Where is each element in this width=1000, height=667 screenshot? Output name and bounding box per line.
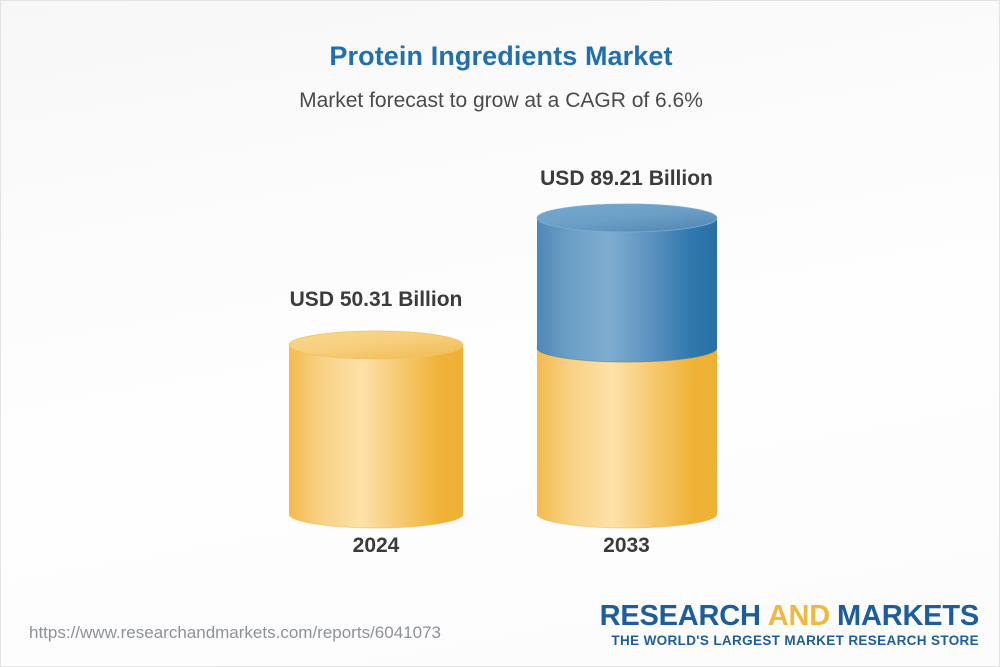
data-label-2033: USD 89.21 Billion bbox=[524, 167, 729, 191]
bar-cylinder-2024 bbox=[289, 331, 479, 526]
logo-tagline: THE WORLD'S LARGEST MARKET RESEARCH STOR… bbox=[600, 633, 979, 648]
chart-canvas: Protein Ingredients Market Market foreca… bbox=[0, 0, 1000, 667]
bar-cylinder-2033 bbox=[537, 204, 733, 526]
logo-word-and: AND bbox=[768, 600, 830, 632]
category-label-2033: 2033 bbox=[524, 534, 729, 558]
logo-word-markets: MARKETS bbox=[837, 600, 979, 632]
category-label-2024: 2024 bbox=[276, 534, 476, 558]
source-url[interactable]: https://www.researchandmarkets.com/repor… bbox=[29, 623, 441, 643]
logo-word-research: RESEARCH bbox=[600, 600, 761, 632]
data-label-2024: USD 50.31 Billion bbox=[276, 288, 476, 312]
logo-wordmark: RESEARCHANDMARKETS bbox=[600, 601, 979, 631]
plot-area: USD 50.31 Billion USD 89.21 Billion 2024… bbox=[1, 1, 1000, 667]
research-and-markets-logo: RESEARCHANDMARKETS THE WORLD'S LARGEST M… bbox=[600, 601, 979, 648]
